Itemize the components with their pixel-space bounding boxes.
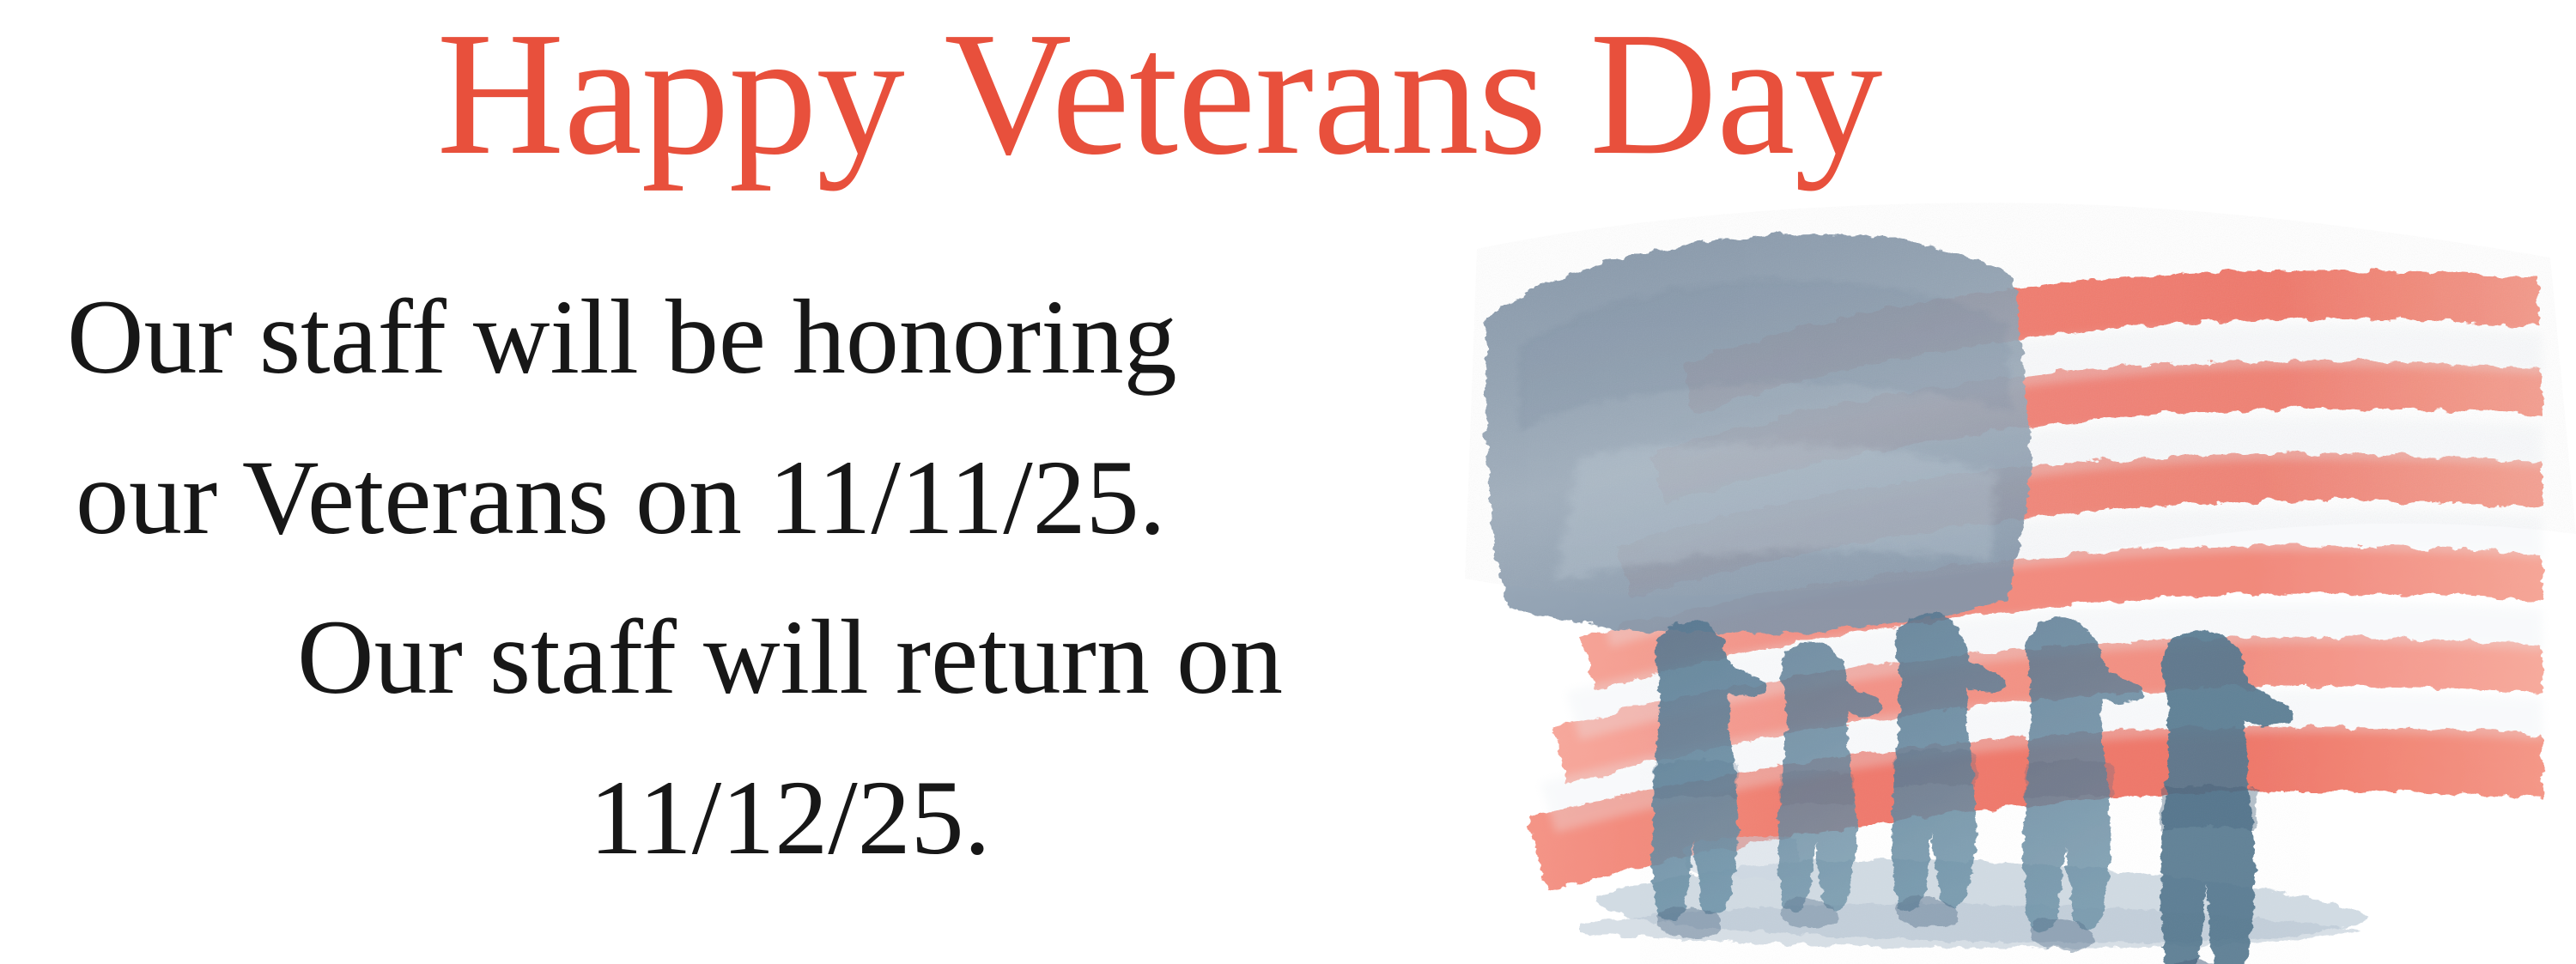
message-line-1: Our staff will be honoring <box>52 258 1563 418</box>
page-title: Happy Veterans Day <box>0 0 2318 193</box>
message-line-2: our Veterans on 11/11/25. <box>52 418 1563 579</box>
banner-text-block: Happy Veterans Day Our staff will be hon… <box>0 0 2318 964</box>
banner-message: Our staff will be honoring our Veterans … <box>52 258 1563 898</box>
veterans-day-banner: Happy Veterans Day Our staff will be hon… <box>0 0 2576 964</box>
message-line-4: 11/12/25. <box>52 738 1563 899</box>
message-line-3: Our staff will return on <box>52 578 1563 738</box>
